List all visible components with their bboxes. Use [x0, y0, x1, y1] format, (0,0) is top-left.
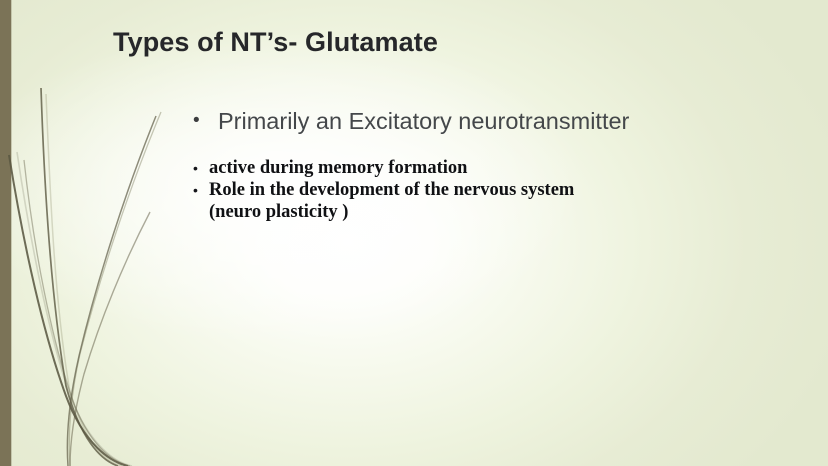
left-accent-bar-hairline	[11, 0, 12, 466]
slide-background-highlight	[0, 0, 828, 466]
sub-bullet-label: Role in the development of the nervous s…	[209, 179, 574, 201]
bullet-marker-icon: •	[190, 179, 209, 201]
main-bullet-item: • Primarily an Excitatory neurotransmitt…	[190, 106, 629, 136]
list-item: • active during memory formation	[190, 157, 710, 179]
main-bullet-label: Primarily an Excitatory neurotransmitter	[212, 106, 629, 136]
sub-bullet-label: active during memory formation	[209, 157, 467, 179]
left-accent-bar	[0, 0, 11, 466]
bullet-marker-icon: •	[190, 157, 209, 179]
list-item: • Role in the development of the nervous…	[190, 179, 710, 201]
bullet-marker-icon: •	[190, 106, 212, 136]
slide-canvas: Types of NT’s- Glutamate • Primarily an …	[0, 0, 828, 466]
page-title: Types of NT’s- Glutamate	[113, 27, 438, 58]
sub-bullet-list: • active during memory formation • Role …	[190, 157, 710, 224]
sub-bullet-continuation: (neuro plasticity )	[209, 201, 710, 224]
